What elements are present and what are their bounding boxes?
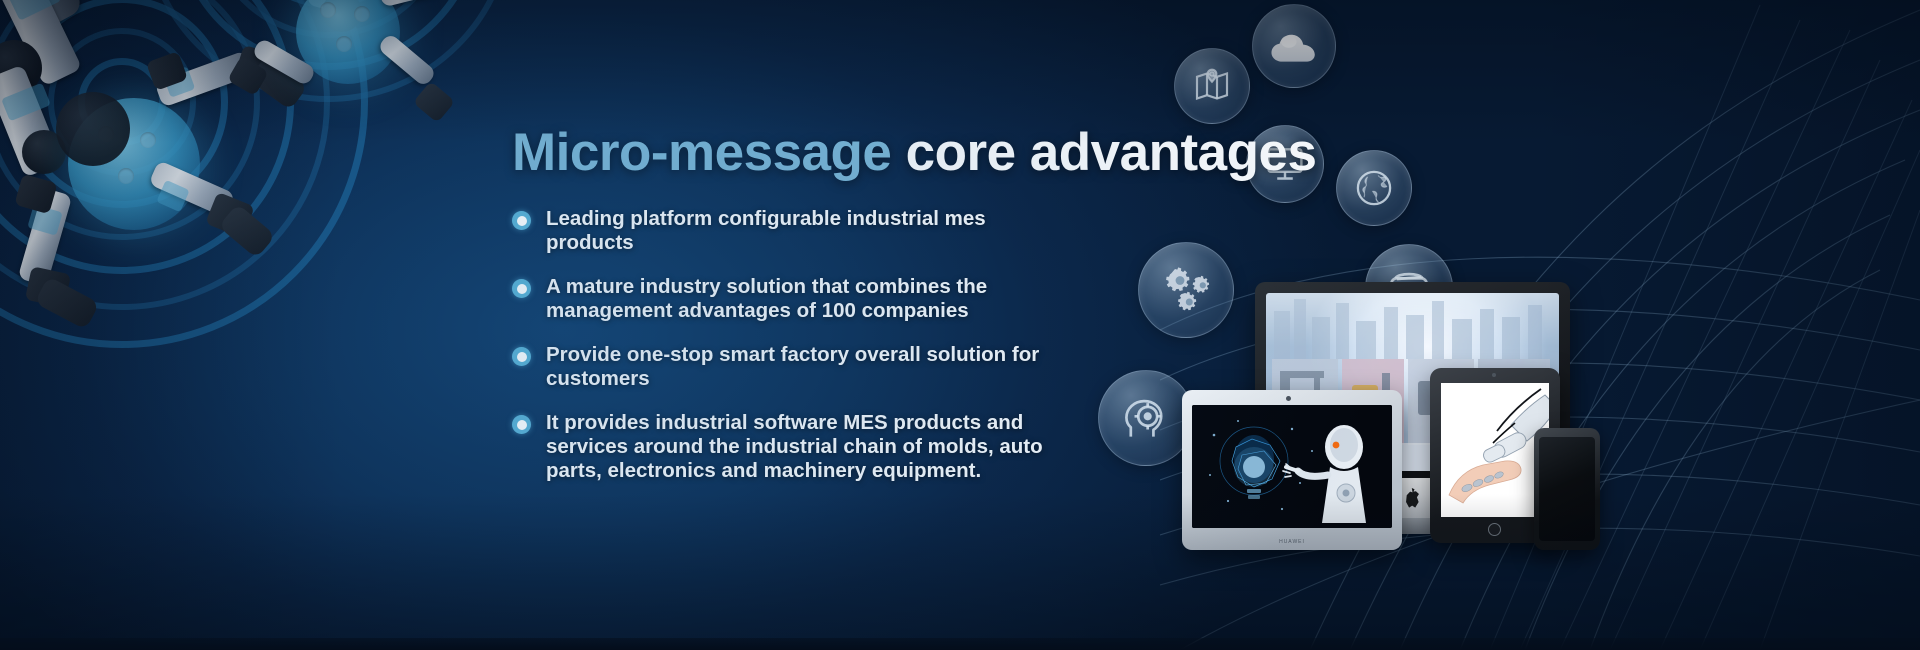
bullet-marker-icon [512, 211, 531, 230]
globe-icon-bubble[interactable] [1336, 150, 1412, 226]
headline-plain: core advantages [906, 123, 1317, 182]
laptop-brand-label: HUAWEI [1182, 539, 1402, 545]
map-location-pin-icon [1192, 66, 1232, 106]
headline-accent: Micro-message [512, 123, 891, 182]
map-location-pin-icon-bubble[interactable] [1174, 48, 1250, 124]
list-item-text: It provides industrial software MES prod… [546, 411, 1043, 482]
bottom-edge-bar [0, 638, 1920, 650]
smartphone-screen [1539, 437, 1595, 541]
text-content: Micro-message core advantages Leading pl… [512, 125, 1252, 503]
bullet-marker-icon [512, 279, 531, 298]
left-graphic-robot-arms [0, 0, 580, 500]
tablet-screen [1441, 383, 1549, 517]
bullet-marker-icon [512, 415, 531, 434]
list-item-text: Provide one-stop smart factory overall s… [546, 343, 1039, 390]
list-item: A mature industry solution that combines… [512, 275, 1072, 323]
list-item: It provides industrial software MES prod… [512, 411, 1072, 483]
page-title: Micro-message core advantages [512, 125, 1252, 181]
bullet-marker-icon [512, 347, 531, 366]
right-graphic-tech-cluster: HUAWEI [1160, 0, 1920, 650]
list-item-text: Leading platform configurable industrial… [546, 207, 986, 254]
cloud-icon [1268, 24, 1320, 68]
advantages-list: Leading platform configurable industrial… [512, 207, 1252, 483]
list-item: Provide one-stop smart factory overall s… [512, 343, 1072, 391]
banner-root: HUAWEI [0, 0, 1920, 650]
smartphone-device [1534, 428, 1600, 550]
cloud-icon-bubble[interactable] [1252, 4, 1336, 88]
list-item: Leading platform configurable industrial… [512, 207, 1072, 255]
tablet-home-button[interactable] [1488, 523, 1501, 536]
list-item-text: A mature industry solution that combines… [546, 275, 987, 322]
globe-icon [1353, 167, 1395, 209]
